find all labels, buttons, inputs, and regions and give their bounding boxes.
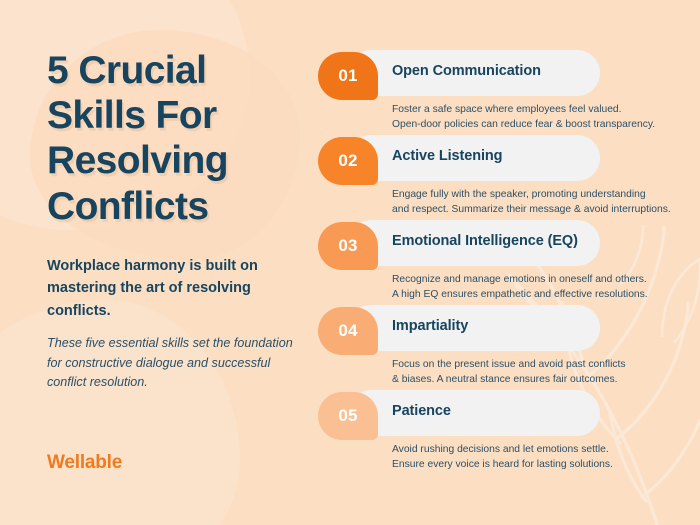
wellable-logo[interactable]: Wellable bbox=[47, 452, 122, 474]
skill-card bbox=[348, 390, 600, 436]
skill-number-badge: 04 bbox=[318, 307, 378, 355]
skills-list: 01 Open Communication Foster a safe spac… bbox=[318, 50, 678, 475]
title-block: 5 Crucial Skills For Resolving Conflicts… bbox=[47, 48, 297, 393]
list-item[interactable]: 03 Emotional Intelligence (EQ) Recognize… bbox=[318, 220, 678, 305]
page-title: 5 Crucial Skills For Resolving Conflicts bbox=[47, 48, 297, 229]
skill-description: Avoid rushing decisions and let emotions… bbox=[392, 442, 682, 473]
skill-title: Active Listening bbox=[392, 148, 502, 164]
skill-number-badge: 01 bbox=[318, 52, 378, 100]
skill-description: Engage fully with the speaker, promoting… bbox=[392, 187, 682, 218]
list-item[interactable]: 02 Active Listening Engage fully with th… bbox=[318, 135, 678, 220]
list-item[interactable]: 01 Open Communication Foster a safe spac… bbox=[318, 50, 678, 135]
infographic-poster: 5 Crucial Skills For Resolving Conflicts… bbox=[0, 0, 700, 525]
caption-paragraph: These five essential skills set the foun… bbox=[47, 334, 297, 393]
lead-paragraph: Workplace harmony is built on mastering … bbox=[47, 255, 297, 322]
skill-description: Foster a safe space where employees feel… bbox=[392, 102, 682, 133]
skill-number-badge: 05 bbox=[318, 392, 378, 440]
skill-title: Open Communication bbox=[392, 63, 541, 79]
list-item[interactable]: 05 Patience Avoid rushing decisions and … bbox=[318, 390, 678, 475]
skill-number-badge: 03 bbox=[318, 222, 378, 270]
skill-description: Recognize and manage emotions in oneself… bbox=[392, 272, 682, 303]
skill-description: Focus on the present issue and avoid pas… bbox=[392, 357, 682, 388]
list-item[interactable]: 04 Impartiality Focus on the present iss… bbox=[318, 305, 678, 390]
skill-title: Impartiality bbox=[392, 318, 468, 334]
skill-title: Emotional Intelligence (EQ) bbox=[392, 233, 578, 249]
skill-number-badge: 02 bbox=[318, 137, 378, 185]
skill-card bbox=[348, 305, 600, 351]
skill-title: Patience bbox=[392, 403, 451, 419]
